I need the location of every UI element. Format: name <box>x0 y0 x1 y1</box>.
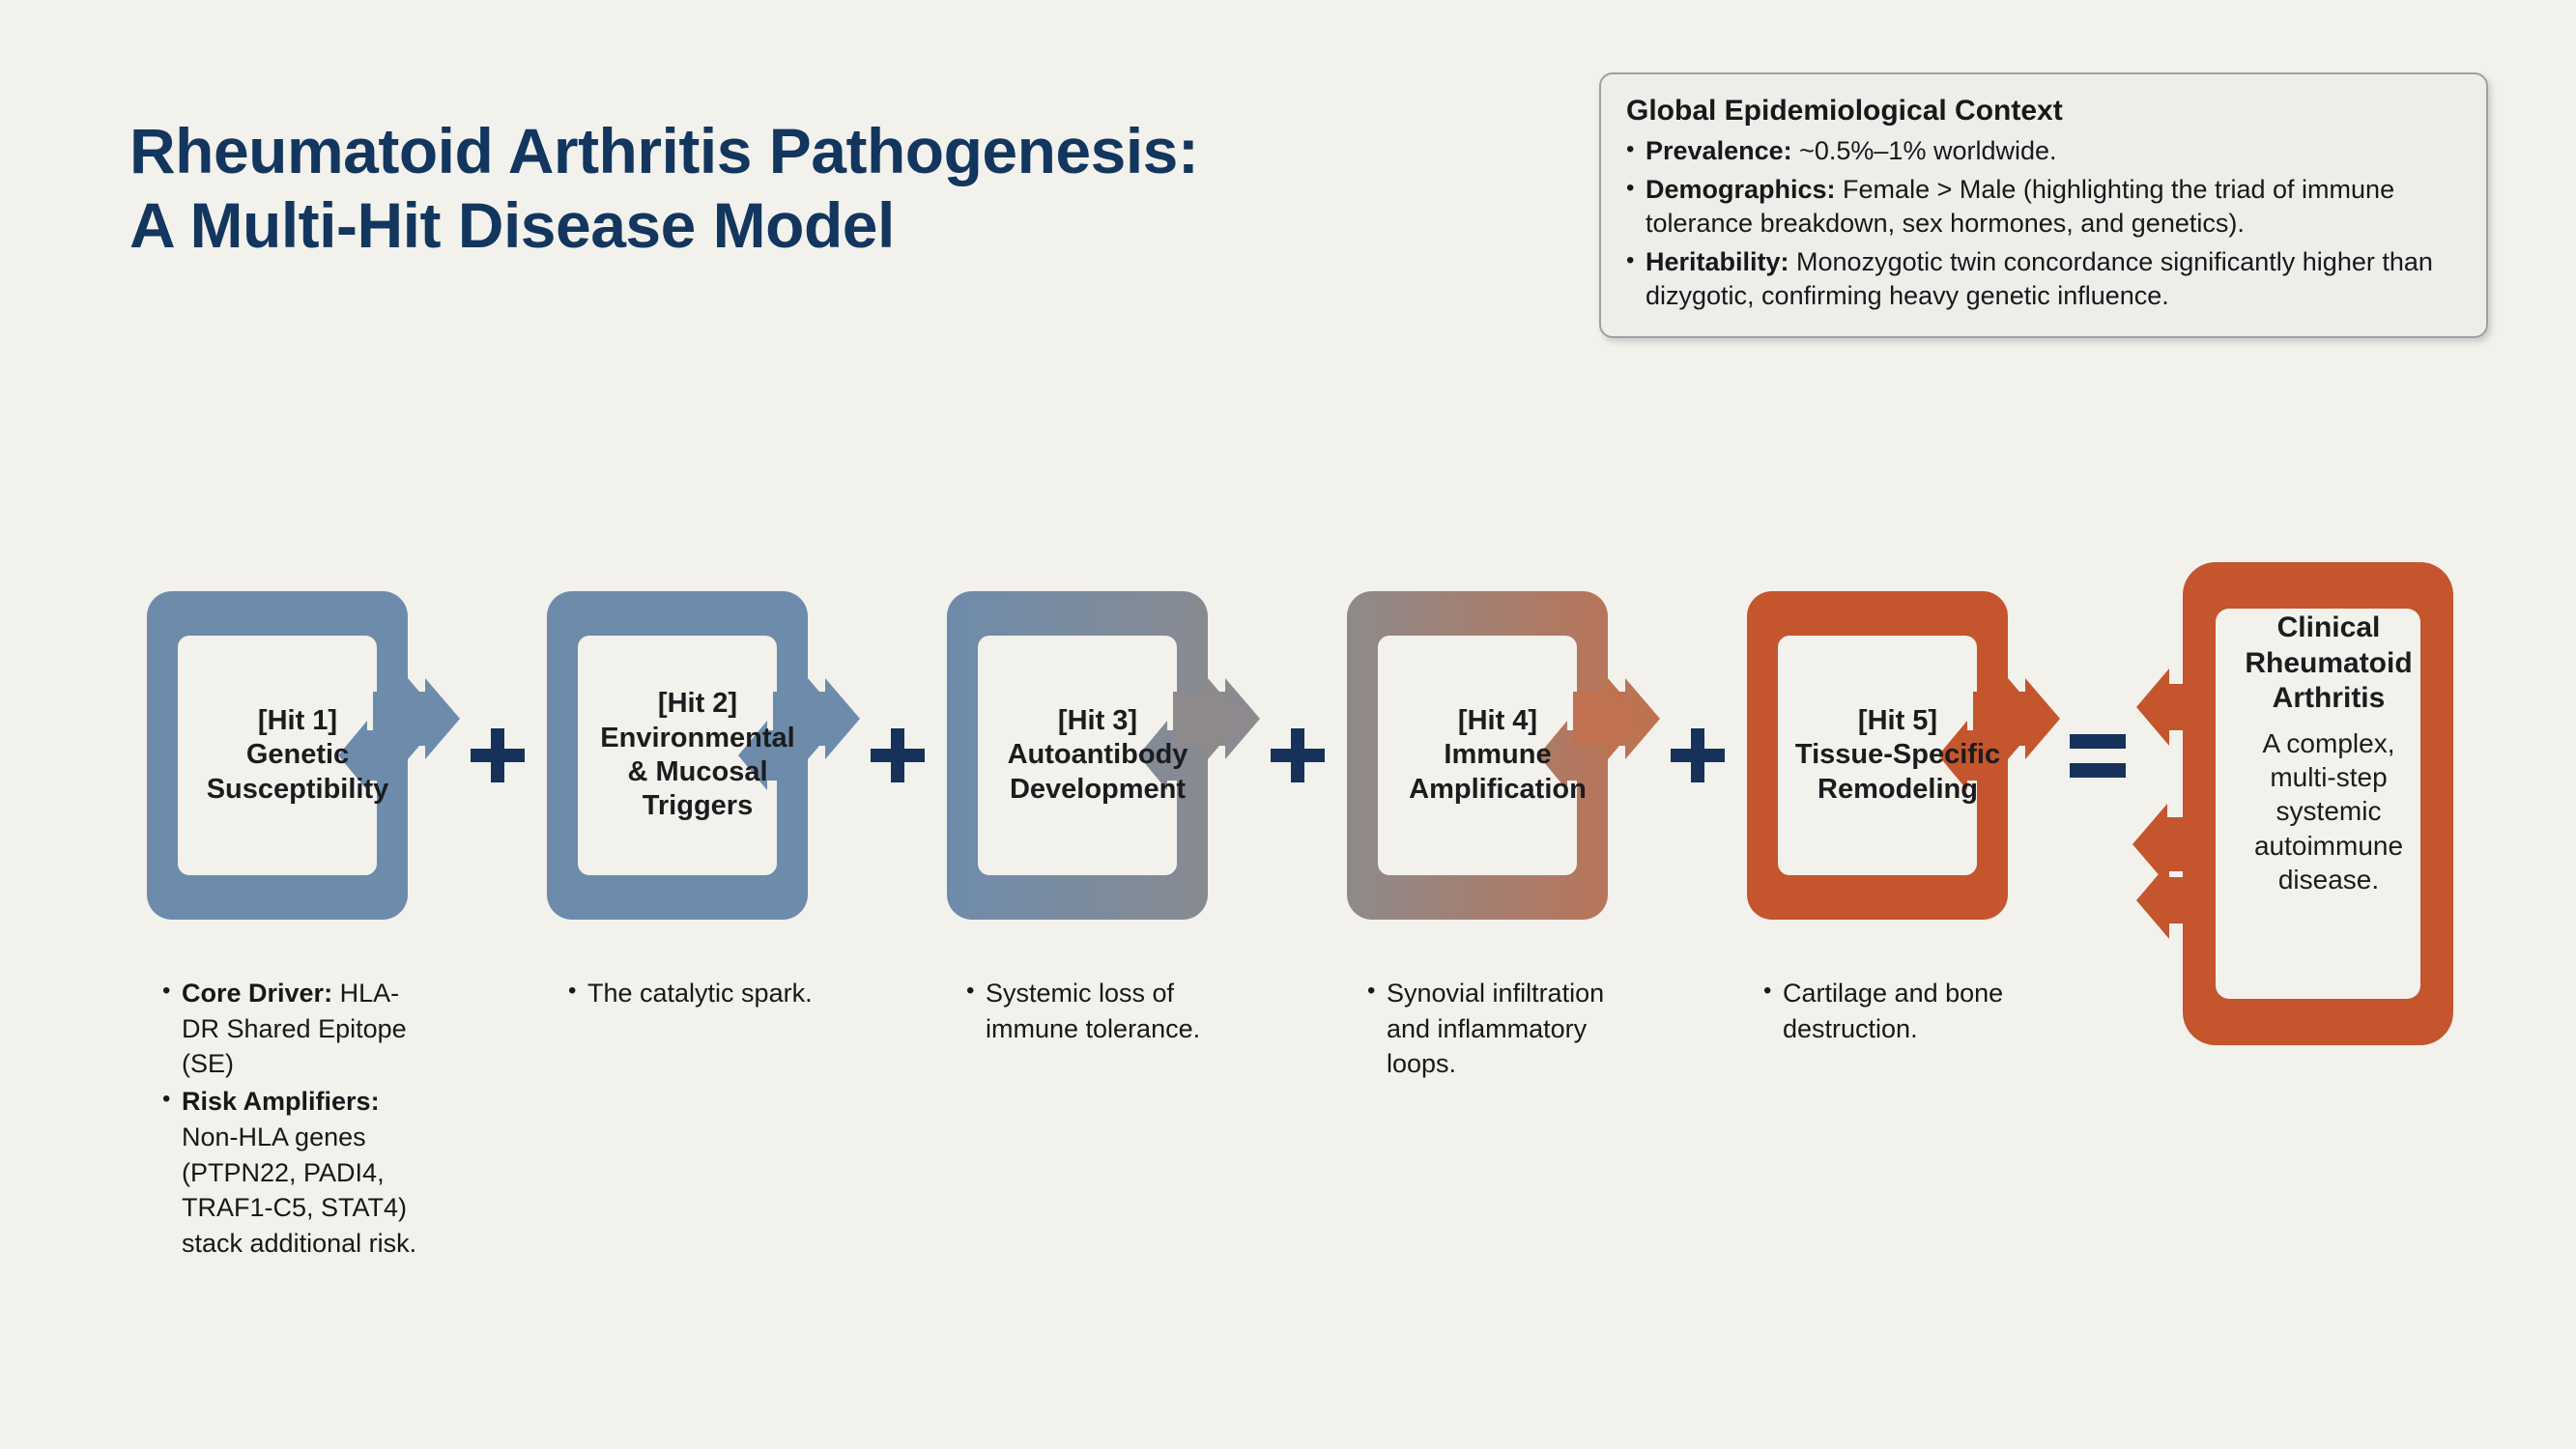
bullet-icon: • <box>966 976 986 1046</box>
step-box-hit-2[interactable]: [Hit 2] Environmental & Mucosal Triggers <box>533 576 862 935</box>
step-border-shape <box>947 591 1260 920</box>
operator-plus-1 <box>462 576 533 935</box>
step-box-hit-1[interactable]: [Hit 1] Genetic Susceptibility <box>133 576 462 935</box>
context-item-label: Heritability: <box>1646 247 1789 276</box>
bullet-icon: • <box>1626 245 1646 313</box>
step-border-shape <box>1347 591 1660 920</box>
operator-plus-3 <box>1262 576 1333 935</box>
global-epidemiological-context-box: Global Epidemiological Context • Prevale… <box>1599 72 2488 338</box>
context-item-body: ~0.5%–1% worldwide. <box>1792 136 2057 165</box>
context-item-demographics: • Demographics: Female > Male (highlight… <box>1626 173 2461 241</box>
note-body: The catalytic spark. <box>587 979 813 1008</box>
outcome-box-clinical-rheumatoid-arthritis[interactable]: Clinical Rheumatoid Arthritis A complex,… <box>2189 553 2469 1055</box>
note-item: • The catalytic spark. <box>568 976 839 1011</box>
bullet-icon: • <box>1763 976 1783 1046</box>
bullet-icon: • <box>568 976 587 1011</box>
plus-icon-horizontal <box>871 749 925 762</box>
note-body: Synovial infiltration and inflammatory l… <box>1387 979 1604 1078</box>
bullet-icon: • <box>1626 134 1646 168</box>
context-item-text: Heritability: Monozygotic twin concordan… <box>1646 245 2461 313</box>
note-text: Cartilage and bone destruction. <box>1783 976 2034 1046</box>
title-line-1: Rheumatoid Arthritis Pathogenesis: <box>129 114 1560 188</box>
bullet-icon: • <box>162 976 182 1082</box>
step-box-hit-5[interactable]: [Hit 5] Tissue-Specific Remodeling <box>1733 576 2062 935</box>
notes-hit-2: • The catalytic spark. <box>568 976 839 1013</box>
step-border-shape <box>547 591 860 920</box>
bullet-icon: • <box>1626 173 1646 241</box>
note-text: Core Driver: HLA-DR Shared Epitope (SE) <box>182 976 433 1082</box>
notes-hit-3: • Systemic loss of immune tolerance. <box>966 976 1237 1048</box>
plus-icon-horizontal <box>1671 749 1725 762</box>
notes-hit-4: • Synovial infiltration and inflammatory… <box>1367 976 1638 1084</box>
step-border-shape <box>147 591 460 920</box>
operator-plus-2 <box>862 576 933 935</box>
plus-icon-horizontal <box>471 749 525 762</box>
context-item-heritability: • Heritability: Monozygotic twin concord… <box>1626 245 2461 313</box>
plus-icon-horizontal <box>1271 749 1325 762</box>
note-item: • Cartilage and bone destruction. <box>1763 976 2034 1046</box>
note-item: • Synovial infiltration and inflammatory… <box>1367 976 1638 1082</box>
note-body: Cartilage and bone destruction. <box>1783 979 2003 1043</box>
note-label: Core Driver: <box>182 979 332 1008</box>
step-box-hit-3[interactable]: [Hit 3] Autoantibody Development <box>933 576 1262 935</box>
notes-hit-5: • Cartilage and bone destruction. <box>1763 976 2034 1048</box>
context-item-label: Demographics: <box>1646 175 1836 204</box>
note-item: • Systemic loss of immune tolerance. <box>966 976 1237 1046</box>
note-body: Non-HLA genes (PTPN22, PADI4, TRAF1-C5, … <box>182 1122 416 1258</box>
step-border-shape <box>1747 591 2060 920</box>
note-text: Systemic loss of immune tolerance. <box>986 976 1237 1046</box>
note-item: • Core Driver: HLA-DR Shared Epitope (SE… <box>162 976 433 1082</box>
note-text: The catalytic spark. <box>587 976 839 1011</box>
note-item: • Risk Amplifiers: Non-HLA genes (PTPN22… <box>162 1084 433 1262</box>
note-text: Risk Amplifiers: Non-HLA genes (PTPN22, … <box>182 1084 433 1262</box>
context-heading: Global Epidemiological Context <box>1626 94 2461 128</box>
note-body: Systemic loss of immune tolerance. <box>986 979 1200 1043</box>
step-box-hit-4[interactable]: [Hit 4] Immune Amplification <box>1333 576 1662 935</box>
page-title: Rheumatoid Arthritis Pathogenesis: A Mul… <box>129 114 1560 262</box>
note-text: Synovial infiltration and inflammatory l… <box>1387 976 1638 1082</box>
context-item-text: Demographics: Female > Male (highlightin… <box>1646 173 2461 241</box>
notes-hit-1: • Core Driver: HLA-DR Shared Epitope (SE… <box>162 976 433 1264</box>
bullet-icon: • <box>1367 976 1387 1082</box>
context-item-prevalence: • Prevalence: ~0.5%–1% worldwide. <box>1626 134 2461 168</box>
bullet-icon: • <box>162 1084 182 1262</box>
note-label: Risk Amplifiers: <box>182 1087 380 1116</box>
context-item-label: Prevalence: <box>1646 136 1792 165</box>
title-line-2: A Multi-Hit Disease Model <box>129 188 1560 263</box>
context-item-text: Prevalence: ~0.5%–1% worldwide. <box>1646 134 2461 168</box>
outcome-border-shape <box>2132 562 2453 1045</box>
operator-plus-4 <box>1662 576 1733 935</box>
